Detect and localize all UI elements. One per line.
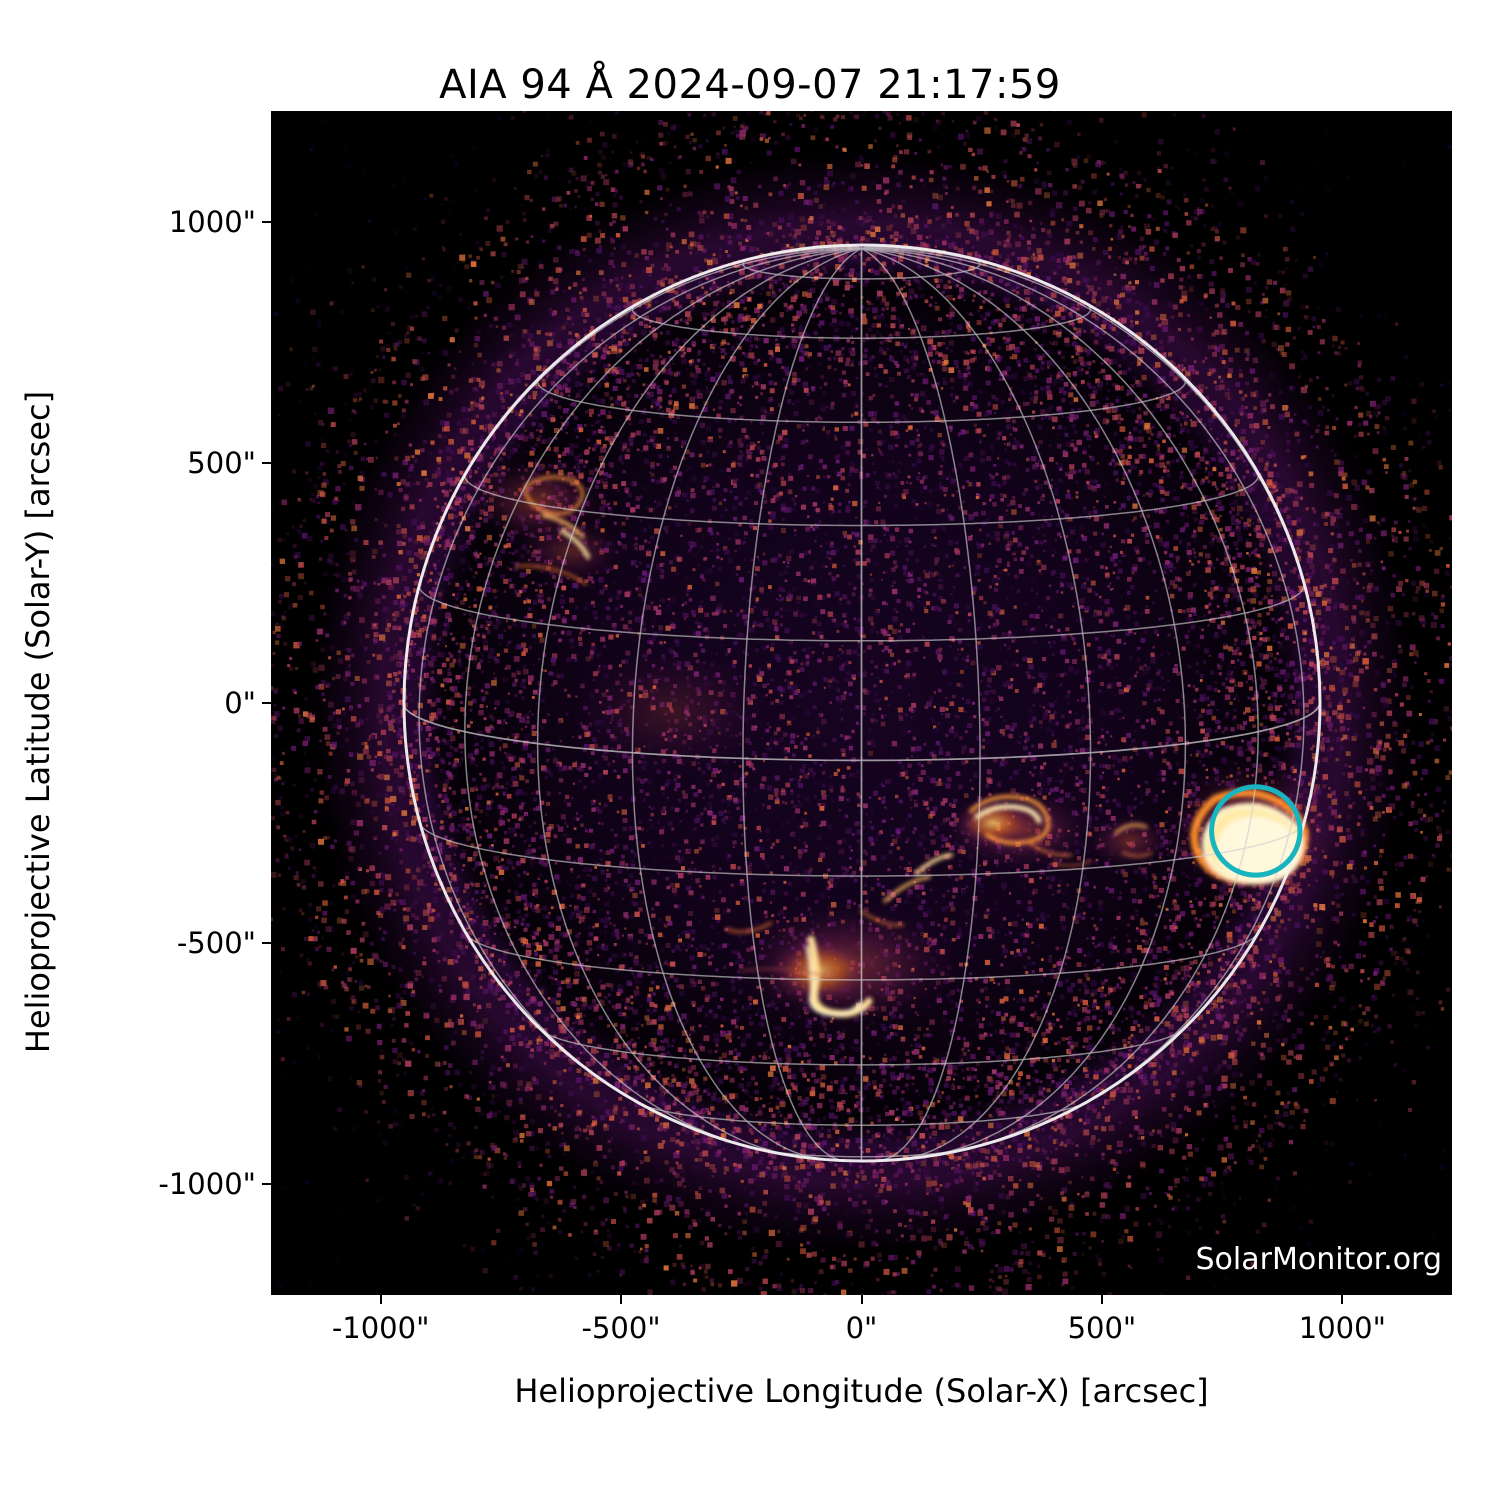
y-axis-title: Helioprojective Latitude (Solar-Y) [arcs… [19,272,57,1172]
plot-area[interactable]: SolarMonitor.org [271,111,1452,1295]
x-tick-label: -1000" [332,1311,430,1345]
watermark-label: SolarMonitor.org [1196,1242,1442,1277]
x-tick-mark [380,1295,382,1304]
y-tick-mark [262,221,271,223]
y-tick-mark [262,942,271,944]
x-tick-mark [861,1295,863,1304]
y-tick-mark [262,1183,271,1185]
x-tick-mark [620,1295,622,1304]
solar-image-figure: AIA 94 Å 2024-09-07 21:17:59 [0,0,1500,1500]
x-tick-mark [1341,1295,1343,1304]
x-tick-label: 500" [1068,1311,1137,1345]
x-axis-title: Helioprojective Longitude (Solar-X) [arc… [271,1372,1452,1410]
y-tick-label: 1000" [21,205,256,239]
x-tick-label: 1000" [1299,1311,1386,1345]
y-tick-mark [262,462,271,464]
x-tick-label: 0" [846,1311,878,1345]
solar-disk-image [271,111,1452,1295]
page-title: AIA 94 Å 2024-09-07 21:17:59 [0,62,1500,108]
y-tick-mark [262,702,271,704]
x-tick-mark [1101,1295,1103,1304]
x-tick-label: -500" [581,1311,660,1345]
